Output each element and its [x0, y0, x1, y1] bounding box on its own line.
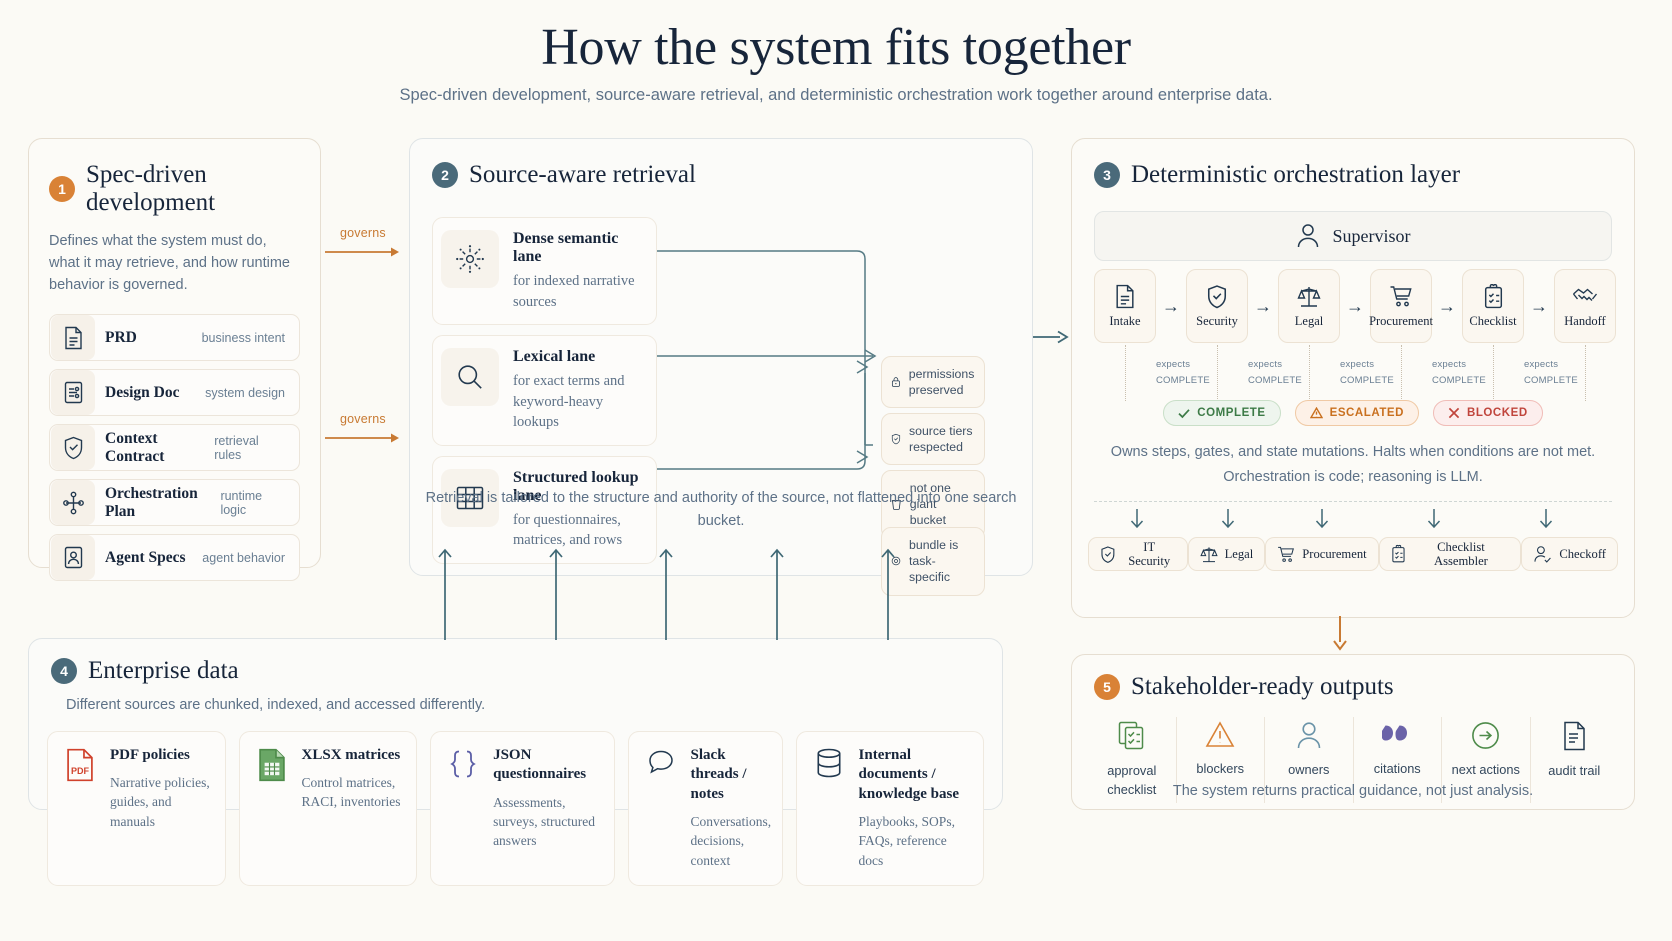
panel3-note-line2: Orchestration is code; reasoning is LLM.	[1072, 466, 1634, 489]
panel5-title: Stakeholder-ready outputs	[1131, 673, 1394, 701]
status-badge-complete[interactable]: COMPLETE	[1163, 400, 1280, 426]
data-card-title: XLSX matrices	[302, 746, 404, 766]
subagent-label: Checklist Assembler	[1413, 540, 1510, 569]
panel2-title: Source-aware retrieval	[469, 161, 696, 189]
chip-permissions-preserved[interactable]: permissions preserved	[881, 356, 985, 408]
spec-row-agent-specs[interactable]: Agent Specs agent behavior	[49, 534, 300, 581]
svg-text:PDF: PDF	[71, 766, 90, 776]
subagent-checklist-assembler[interactable]: Checklist Assembler	[1379, 537, 1522, 571]
data-card-slack-threads[interactable]: Slack threads / notes Conversations, dec…	[628, 731, 783, 886]
panel2-number-badge: 2	[432, 162, 458, 188]
document-icon	[1114, 284, 1136, 309]
gate-tick	[1585, 345, 1586, 401]
spec-row-design-doc[interactable]: Design Doc system design	[49, 369, 300, 416]
agent-card-icon	[51, 535, 95, 580]
spec-row-prd[interactable]: PRD business intent	[49, 314, 300, 361]
panel-spec-driven-development: 1 Spec-driven development Defines what t…	[28, 138, 321, 568]
shield-check-icon	[1100, 545, 1116, 564]
gate-tick	[1217, 345, 1218, 401]
pipeline-gate: expectsCOMPLETE	[1432, 343, 1462, 388]
data-card-json-questionnaires[interactable]: JSON questionnaires Assessments, surveys…	[430, 731, 614, 886]
pipeline-step-legal[interactable]: Legal	[1278, 269, 1340, 343]
magnifier-icon	[441, 348, 499, 406]
governs-arrow-1	[325, 246, 405, 260]
panel4-number-badge: 4	[51, 658, 77, 684]
dense-vector-icon	[441, 230, 499, 288]
data-card-subtitle: Narrative policies, guides, and manuals	[110, 773, 212, 830]
subagent-down-arrows	[1094, 507, 1614, 535]
gate-tick	[1309, 345, 1310, 401]
status-badge-row: COMPLETE ESCALATED BLOCKED	[1072, 400, 1634, 426]
pipeline-step-intake[interactable]: Intake	[1094, 269, 1156, 343]
section-divider	[1094, 501, 1612, 502]
spec-row-orchestration-plan[interactable]: Orchestration Plan runtime logic	[49, 479, 300, 526]
pipeline-arrow: →	[1248, 269, 1278, 343]
output-label: next actions	[1452, 761, 1520, 780]
step-label: Legal	[1295, 314, 1323, 329]
gate-tick	[1493, 345, 1494, 401]
spec-tag: retrieval rules	[214, 434, 285, 462]
data-card-title: PDF policies	[110, 746, 212, 766]
panel1-header: 1 Spec-driven development	[49, 161, 320, 217]
handshake-icon	[1572, 284, 1598, 309]
subagent-row: IT Security Legal Procurement	[1088, 537, 1618, 571]
step-label: Checklist	[1469, 314, 1516, 329]
orchestration-pipeline: Intake → expectsCOMPLETE Security →	[1094, 269, 1616, 388]
audit-doc-icon	[1562, 721, 1587, 751]
subagent-label: Procurement	[1302, 547, 1366, 561]
governs-label-1: governs	[340, 226, 386, 240]
chip-label: bundle is task-specific	[909, 537, 976, 586]
governs-arrow-2	[325, 432, 405, 446]
status-label: ESCALATED	[1330, 407, 1404, 419]
data-card-title: Internal documents / knowledge base	[859, 746, 970, 805]
subagent-legal[interactable]: Legal	[1188, 537, 1266, 571]
scales-icon	[1200, 545, 1218, 564]
lane-subtitle: for indexed narrative sources	[513, 271, 642, 312]
warning-icon	[1310, 407, 1323, 419]
data-card-internal-documents[interactable]: Internal documents / knowledge base Play…	[796, 731, 984, 886]
node-graph-icon	[51, 480, 95, 525]
panel1-description: Defines what the system must do, what it…	[49, 231, 299, 296]
pipeline-arrow: →	[1156, 269, 1186, 343]
data-card-subtitle: Conversations, decisions, context	[691, 812, 772, 869]
spec-name: Design Doc	[105, 384, 179, 402]
data-card-subtitle: Assessments, surveys, structured answers	[493, 793, 600, 850]
checklist-stack-icon	[1118, 721, 1146, 751]
quote-icon	[1382, 721, 1412, 749]
status-badge-blocked[interactable]: BLOCKED	[1433, 400, 1543, 426]
pipeline-gate: expectsCOMPLETE	[1248, 343, 1278, 388]
shield-check-icon	[1206, 284, 1228, 309]
check-icon	[1178, 408, 1190, 419]
spec-name: PRD	[105, 329, 137, 347]
step-label: Intake	[1109, 314, 1140, 329]
data-card-title: JSON questionnaires	[493, 746, 600, 785]
pipeline-gate: expectsCOMPLETE	[1524, 343, 1554, 388]
spec-name: Orchestration Plan	[105, 485, 220, 521]
page-subtitle: Spec-driven development, source-aware re…	[0, 86, 1672, 105]
panel4-title: Enterprise data	[88, 657, 239, 685]
spec-tag: agent behavior	[202, 551, 285, 565]
lane-lexical[interactable]: Lexical lane for exact terms and keyword…	[432, 335, 657, 446]
subagent-it-security[interactable]: IT Security	[1088, 537, 1188, 571]
data-card-title: Slack threads / notes	[691, 746, 772, 805]
pipeline-gate: expectsCOMPLETE	[1156, 343, 1186, 388]
lock-icon	[891, 372, 901, 392]
pipeline-step-handoff[interactable]: Handoff	[1554, 269, 1616, 343]
chat-bubble-icon	[642, 746, 680, 870]
panel2-note: Retrieval is tailored to the structure a…	[410, 487, 1032, 534]
step-label: Handoff	[1564, 314, 1605, 329]
panel-deterministic-orchestration: 3 Deterministic orchestration layer Supe…	[1071, 138, 1635, 618]
scales-icon	[1297, 284, 1321, 309]
pdf-file-icon: PDF	[61, 746, 99, 870]
status-label: BLOCKED	[1467, 407, 1528, 419]
gate-tick	[1401, 345, 1402, 401]
supervisor-bar[interactable]: Supervisor	[1094, 211, 1612, 261]
data-card-subtitle: Control matrices, RACI, inventories	[302, 773, 404, 811]
spec-tag: system design	[205, 386, 285, 400]
panel1-title: Spec-driven development	[86, 161, 320, 217]
panel4-header: 4 Enterprise data	[51, 657, 1002, 685]
data-card-subtitle: Playbooks, SOPs, FAQs, reference docs	[859, 812, 970, 869]
cart-icon	[1277, 545, 1295, 564]
subagent-label: Checkoff	[1559, 547, 1606, 561]
person-check-icon	[1533, 545, 1552, 564]
orchestration-to-outputs-arrow	[1330, 616, 1350, 656]
clipboard-icon	[1483, 284, 1504, 309]
spec-name: Agent Specs	[105, 549, 186, 567]
data-source-cards: PDF PDF policies Narrative policies, gui…	[47, 731, 984, 886]
chip-label: permissions preserved	[909, 366, 976, 398]
output-label: blockers	[1196, 760, 1244, 779]
chip-source-tiers-respected[interactable]: source tiers respected	[881, 413, 985, 465]
pipeline-step-procurement[interactable]: Procurement	[1370, 269, 1432, 343]
status-label: COMPLETE	[1197, 407, 1265, 419]
subagent-label: IT Security	[1123, 540, 1176, 569]
panel-enterprise-data: 4 Enterprise data Different sources are …	[28, 638, 1003, 810]
panel5-header: 5 Stakeholder-ready outputs	[1094, 673, 1634, 701]
database-icon	[810, 746, 848, 870]
output-label: audit trail	[1548, 762, 1600, 781]
spec-tag: business intent	[202, 331, 285, 345]
data-card-xlsx-matrices[interactable]: XLSX matrices Control matrices, RACI, in…	[239, 731, 418, 886]
spec-tag: runtime logic	[220, 489, 285, 517]
cross-icon	[1448, 407, 1460, 419]
cart-icon	[1389, 284, 1413, 309]
panel1-number-badge: 1	[49, 176, 75, 202]
panel3-number-badge: 3	[1094, 162, 1120, 188]
diagram-canvas: How the system fits together Spec-driven…	[0, 0, 1672, 941]
panel5-number-badge: 5	[1094, 674, 1120, 700]
status-badge-escalated[interactable]: ESCALATED	[1295, 400, 1419, 426]
pipeline-arrow: →	[1524, 269, 1554, 343]
panel2-header: 2 Source-aware retrieval	[432, 161, 1032, 189]
panel3-title: Deterministic orchestration layer	[1131, 161, 1460, 189]
panel-source-aware-retrieval: 2 Source-aware retrieval	[409, 138, 1033, 576]
pipeline-gate: expectsCOMPLETE	[1340, 343, 1370, 388]
panel-stakeholder-outputs: 5 Stakeholder-ready outputs approval che…	[1071, 654, 1635, 810]
panel4-description: Different sources are chunked, indexed, …	[66, 695, 1002, 717]
person-icon	[1296, 223, 1320, 249]
lane-title: Dense semantic lane	[513, 230, 642, 266]
clipboard-icon	[1391, 544, 1406, 564]
supervisor-label: Supervisor	[1333, 226, 1411, 247]
shield-check-icon	[891, 429, 901, 449]
target-icon	[891, 551, 901, 571]
pipeline-step-security[interactable]: Security	[1186, 269, 1248, 343]
shield-check-icon	[51, 425, 95, 470]
subagent-procurement[interactable]: Procurement	[1265, 537, 1378, 571]
xlsx-file-icon	[253, 746, 291, 870]
output-label: citations	[1374, 760, 1421, 779]
panel3-header: 3 Deterministic orchestration layer	[1094, 161, 1634, 189]
document-icon	[51, 315, 95, 360]
retrieval-to-orchestration-arrow	[1033, 328, 1073, 346]
subagent-checkoff[interactable]: Checkoff	[1521, 537, 1618, 571]
pipeline-arrow: →	[1340, 269, 1370, 343]
pipeline-arrow: →	[1432, 269, 1462, 343]
panel5-note: The system returns practical guidance, n…	[1072, 780, 1634, 803]
page-title: How the system fits together	[0, 18, 1672, 77]
gate-tick	[1125, 345, 1126, 401]
pipeline-step-checklist[interactable]: Checklist	[1462, 269, 1524, 343]
governs-label-2: governs	[340, 412, 386, 426]
lane-title: Lexical lane	[513, 348, 642, 366]
spec-name: Context Contract	[105, 430, 214, 466]
step-label: Procurement	[1369, 314, 1433, 329]
step-label: Security	[1196, 314, 1238, 329]
chip-bundle-is-task-specific[interactable]: bundle is task-specific	[881, 527, 985, 596]
panel3-note-line1: Owns steps, gates, and state mutations. …	[1072, 441, 1634, 464]
person-icon	[1296, 721, 1322, 750]
arrow-circle-icon	[1471, 721, 1500, 750]
lane-dense-semantic[interactable]: Dense semantic lane for indexed narrativ…	[432, 217, 657, 325]
warning-triangle-icon	[1205, 721, 1235, 749]
output-label: owners	[1288, 761, 1329, 780]
spec-row-context-contract[interactable]: Context Contract retrieval rules	[49, 424, 300, 471]
spec-list: PRD business intent Design Doc system de…	[49, 314, 300, 581]
subagent-label: Legal	[1225, 547, 1254, 561]
json-braces-icon	[444, 746, 482, 870]
chip-label: source tiers respected	[909, 423, 976, 455]
lane-subtitle: for exact terms and keyword-heavy lookup…	[513, 371, 642, 433]
data-card-pdf-policies[interactable]: PDF PDF policies Narrative policies, gui…	[47, 731, 226, 886]
design-doc-icon	[51, 370, 95, 415]
